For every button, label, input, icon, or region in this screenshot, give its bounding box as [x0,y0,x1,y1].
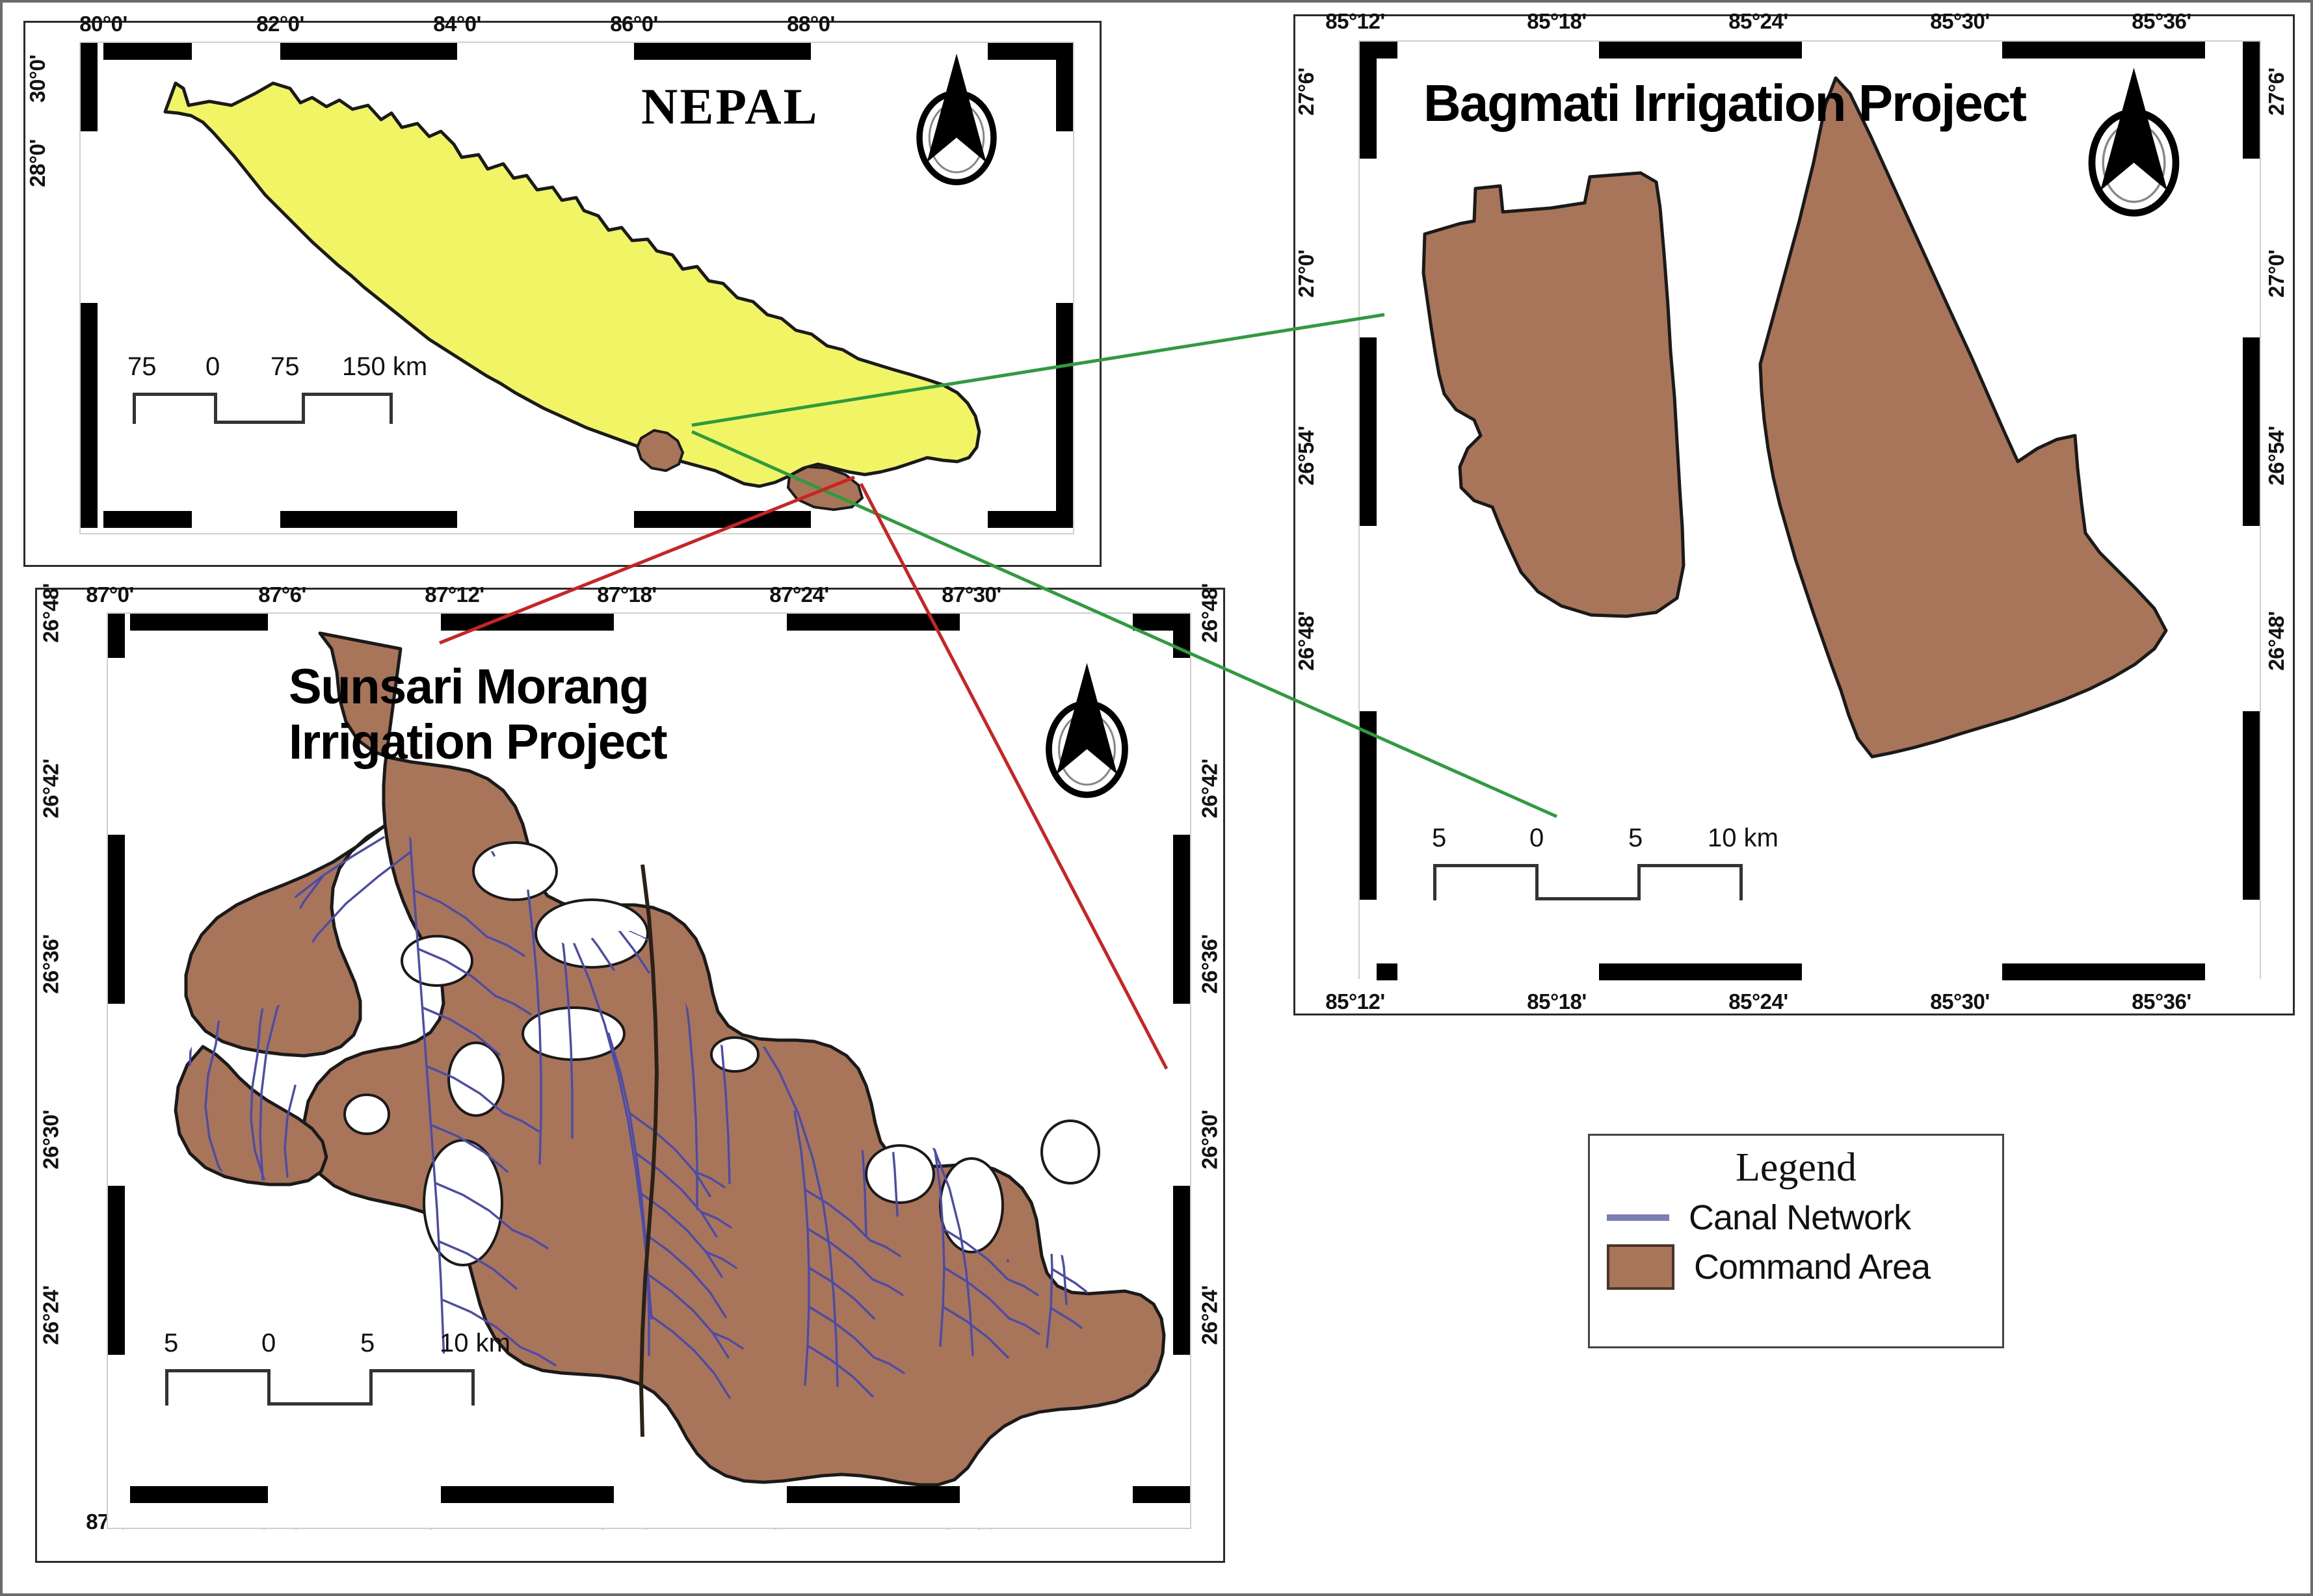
nepal-scalebar-labels: 75 0 75 150 km [121,352,459,382]
nepal-xtick-3: 86°0' [585,12,683,36]
north-arrow-icon [1024,656,1150,812]
bagmati-scalebar-labels: 5 0 5 10 km [1414,824,1778,854]
nepal-xtick-4: 88°0' [762,12,860,36]
north-arrow-glyph [2064,60,2204,232]
canal-line-swatch-icon [1607,1214,1669,1221]
sunsari-ytick-r1: 26°42' [1198,735,1223,843]
sunsari-band-left [108,614,125,1486]
bagmati-xtick-b3: 85°30' [1895,989,2025,1014]
nepal-ytick-l0: 30°0' [25,33,50,124]
sunsari-scalebar: 5 0 5 10 km [146,1329,510,1402]
panel-bagmati: 85°12' 85°18' 85°24' 85°30' 85°36' 85°12… [1293,14,2295,1015]
bagmati-ytick-l1: 27°0' [1294,222,1319,326]
sunsari-ytick-l4: 26°24' [39,1262,64,1369]
legend-title: Legend [1590,1145,2002,1191]
command-area-swatch-icon [1607,1244,1674,1290]
bagmati-xtick-3: 85°30' [1895,9,2025,34]
nepal-xtick-1: 82°0' [231,12,329,36]
nepal-xtick-2: 84°0' [408,12,506,36]
north-arrow-icon [895,48,1018,198]
legend-label-command-area: Command Area [1694,1247,1930,1287]
nepal-scale-label-0: 75 [127,352,157,382]
bagmati-ytick-r3: 26°48' [2264,589,2289,693]
nepal-scalebar: 75 0 75 150 km [121,352,459,425]
bagmati-band-top [1360,42,2260,59]
sunsari-ytick-l2: 26°36' [39,911,64,1018]
nepal-band-bottom [81,511,1073,528]
panel-sunsari-morang: 87°0' 87°6' 87°12' 87°18' 87°24' 87°30' … [35,588,1225,1563]
bagmati-scale-label-1: 0 [1529,824,1544,853]
sunsari-scale-label-0: 5 [164,1329,178,1358]
nepal-ytick-l1: 28°0' [25,118,50,209]
nepal-title: NEPAL [641,78,819,135]
sunsari-scale-label-3: 10 km [440,1329,510,1358]
sunsari-scalebar-labels: 5 0 5 10 km [146,1329,510,1359]
bagmati-xtick-b4: 85°36' [2096,989,2227,1014]
bagmati-ytick-l3: 26°48' [1294,589,1319,693]
legend-item-canal-network[interactable]: Canal Network [1607,1197,2002,1238]
nepal-band-right [1056,43,1073,528]
sunsari-ytick-l3: 26°30' [39,1086,64,1194]
bagmati-band-left [1360,42,1377,980]
bagmati-xtick-2: 85°24' [1693,9,1823,34]
sunsari-ytick-r2: 26°36' [1198,911,1223,1018]
nepal-scalebar-graphic [121,393,459,425]
sunsari-ytick-r0: 26°48' [1198,560,1223,667]
bagmati-xtick-0: 85°12' [1290,9,1420,34]
bagmati-ytick-l0: 27°6' [1294,40,1319,144]
legend: Legend Canal Network Command Area [1588,1134,2004,1348]
sunsari-xtick-1: 87°6' [220,582,344,607]
nepal-xtick-0: 80°0' [55,12,152,36]
legend-item-command-area[interactable]: Command Area [1607,1244,2002,1290]
sunsari-ytick-r3: 26°30' [1198,1086,1223,1194]
sunsari-xtick-0: 87°0' [48,582,172,607]
nepal-scale-label-1: 0 [205,352,220,382]
sunsari-band-right [1173,614,1190,1486]
bagmati-band-right [2243,42,2260,980]
sunsari-scale-label-1: 0 [261,1329,276,1358]
nepal-scale-label-3: 150 km [342,352,427,382]
bagmati-scalebar: 5 0 5 10 km [1414,824,1778,896]
panel-nepal: 80°0' 82°0' 84°0' 86°0' 88°0' 80°0' 82°0… [23,21,1102,567]
bagmati-xtick-b1: 85°18' [1492,989,1622,1014]
legend-label-canal-network: Canal Network [1689,1197,1910,1238]
sunsari-scale-label-2: 5 [360,1329,375,1358]
bagmati-xtick-1: 85°18' [1492,9,1622,34]
figure-root: 80°0' 82°0' 84°0' 86°0' 88°0' 80°0' 82°0… [0,0,2313,1596]
north-arrow-icon [2064,60,2204,232]
sunsari-band-top [108,614,1190,631]
bagmati-scale-label-2: 5 [1628,824,1643,853]
sunsari-ytick-r4: 26°24' [1198,1262,1223,1369]
bagmati-ytick-r0: 27°6' [2264,40,2289,144]
bagmati-xtick-4: 85°36' [2096,9,2227,34]
bagmati-xtick-b2: 85°24' [1693,989,1823,1014]
nepal-scale-label-2: 75 [271,352,300,382]
sunsari-xtick-3: 87°18' [565,582,689,607]
sunsari-xtick-4: 87°24' [737,582,861,607]
nepal-band-left [81,43,98,528]
sunsari-title: Sunsari Morang Irrigation Project [289,659,667,770]
bagmati-ytick-r1: 27°0' [2264,222,2289,326]
bagmati-band-bottom [1360,963,2260,980]
sunsari-ytick-l0: 26°48' [39,560,64,667]
bagmati-xtick-b0: 85°12' [1290,989,1420,1014]
bagmati-scalebar-graphic [1414,864,1778,896]
bagmati-scale-label-3: 10 km [1708,824,1778,853]
north-arrow-glyph [1024,656,1150,812]
bagmati-ytick-l2: 26°54' [1294,404,1319,508]
north-arrow-glyph [895,48,1018,198]
sunsari-band-bottom [108,1486,1190,1503]
bagmati-scale-label-0: 5 [1432,824,1446,853]
bagmati-ytick-r2: 26°54' [2264,404,2289,508]
bagmati-title: Bagmati Irrigation Project [1423,74,2026,133]
sunsari-ytick-l1: 26°42' [39,735,64,843]
sunsari-xtick-2: 87°12' [393,582,516,607]
sunsari-xtick-5: 87°30' [910,582,1033,607]
sunsari-scalebar-graphic [146,1369,510,1402]
